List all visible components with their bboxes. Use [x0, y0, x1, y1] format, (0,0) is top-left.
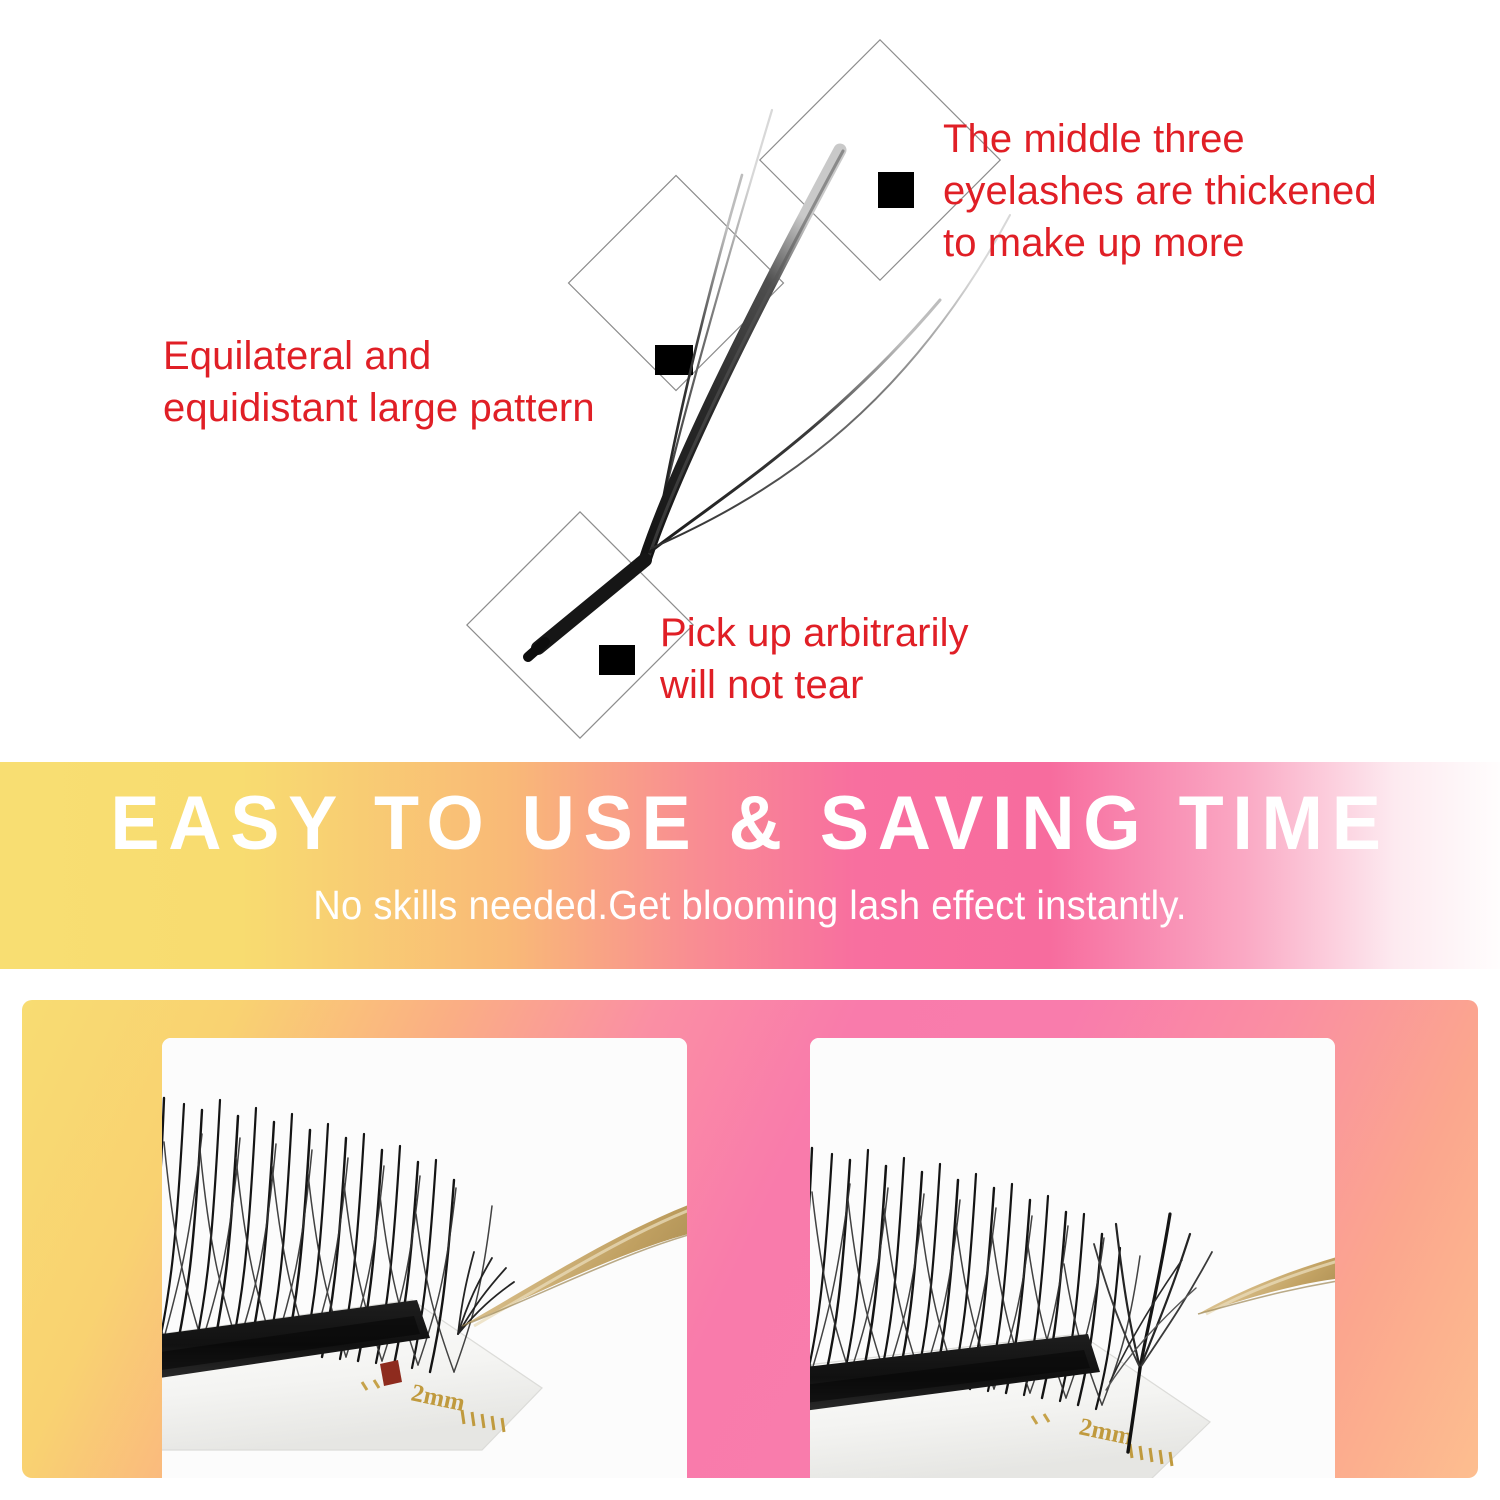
- banner-title: EASY TO USE & SAVING TIME: [23, 786, 1478, 862]
- headline-banner: EASY TO USE & SAVING TIME No skills need…: [0, 762, 1500, 969]
- callout-equilateral: Equilateral and equidistant large patter…: [163, 330, 595, 434]
- photo-card-left[interactable]: 2mm: [162, 1038, 687, 1478]
- black-square-middle: [655, 345, 693, 375]
- photo-gallery-panel: 2mm: [22, 1000, 1478, 1478]
- callout-middle-three: The middle three eyelashes are thickened…: [943, 113, 1377, 269]
- black-square-top: [878, 172, 914, 208]
- lash-base-handle: [538, 560, 645, 648]
- banner-subtitle: No skills needed.Get blooming lash effec…: [53, 885, 1448, 926]
- red-tab: [380, 1360, 402, 1386]
- callout-pick-up: Pick up arbitrarily will not tear: [660, 607, 969, 711]
- feature-diagram-panel: The middle three eyelashes are thickened…: [0, 0, 1500, 762]
- photo-card-right[interactable]: 2mm: [810, 1038, 1335, 1478]
- lash-tray-with-picked-fan-image: 2mm: [810, 1038, 1335, 1478]
- black-square-bottom: [599, 645, 635, 675]
- lash-base-handle-taper: [528, 642, 545, 657]
- lash-tray-with-tweezers-image: 2mm: [162, 1038, 687, 1478]
